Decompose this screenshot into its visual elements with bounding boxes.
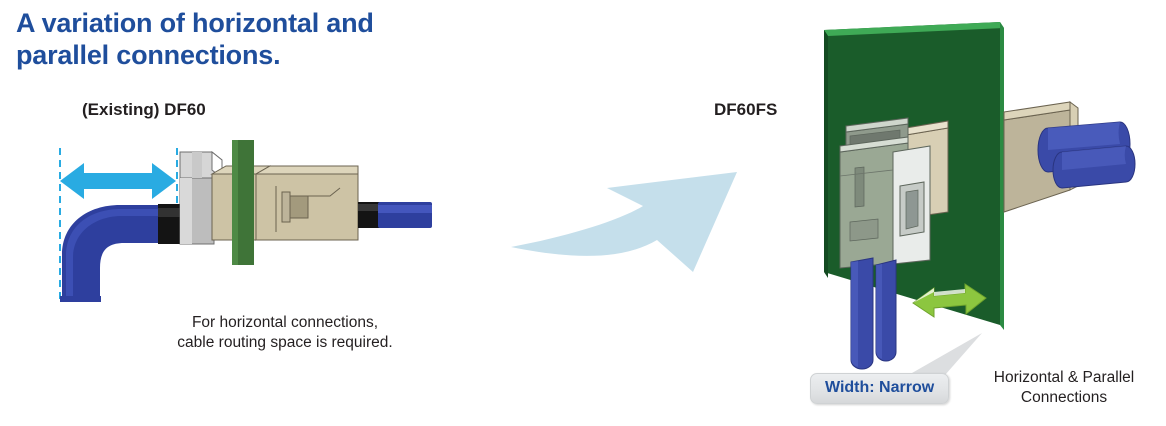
right-rear-cables [1038,122,1135,188]
right-rear-housing [1004,102,1078,212]
left-panel-caption: For horizontal connections, cable routin… [140,313,430,354]
page-title-line2: parallel connections. [16,40,536,72]
right-caption-line2: Connections [962,388,1166,408]
left-rear-cable [378,202,432,228]
page-title: A variation of horizontal and parallel c… [16,8,536,71]
narrow-width-arrow [913,284,986,317]
right-pcb-board [824,22,1004,330]
right-caption-line1: Horizontal & Parallel [962,368,1166,388]
dimension-guide-lines [60,148,177,300]
left-caption-line2: cable routing space is required. [140,333,430,353]
right-front-connector [840,118,948,268]
left-caption-line1: For horizontal connections, [140,313,430,333]
left-housing-front [212,166,270,240]
cable-routing-space-arrow [60,163,176,199]
left-housing-rear [256,166,358,240]
left-cable-boot [158,204,182,244]
left-cable [60,205,172,302]
page-title-line1: A variation of horizontal and [16,8,374,38]
left-angled-connector [180,152,222,244]
right-panel-caption: Horizontal & Parallel Connections [962,368,1166,409]
width-badge[interactable]: Width: Narrow [810,373,949,404]
right-panel-label: DF60FS [714,100,777,120]
left-pcb-board [232,140,254,265]
left-rear-boot [358,202,380,228]
width-badge-label: Width: Narrow [825,380,934,396]
left-panel-label: (Existing) DF60 [82,100,206,120]
